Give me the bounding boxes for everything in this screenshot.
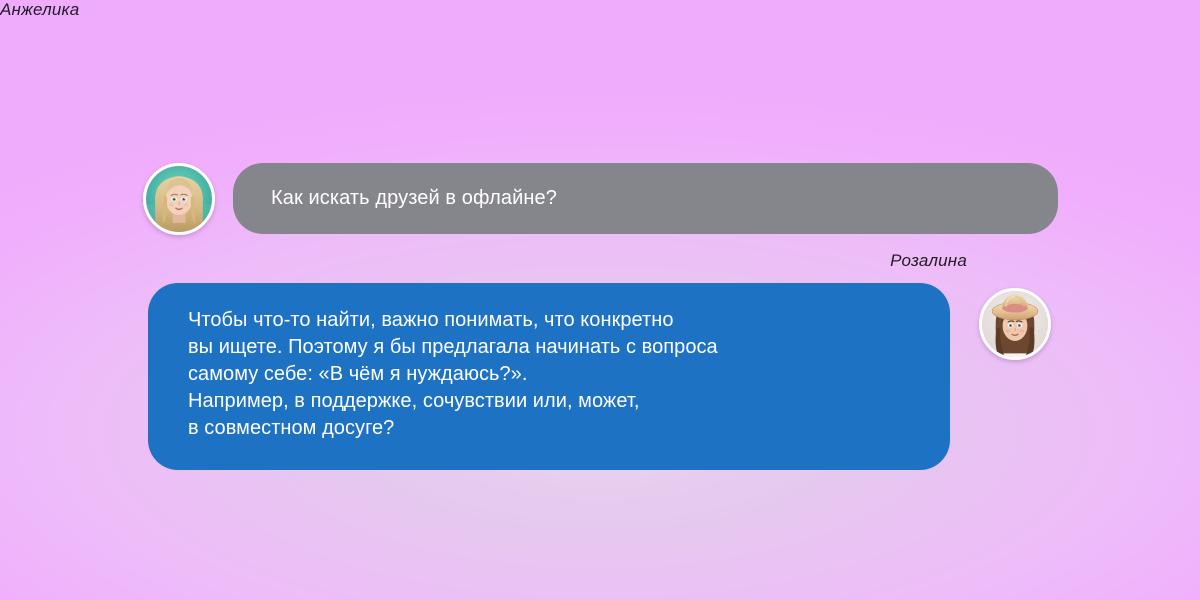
message-text-rozalina: Чтобы что-то найти, важно понимать, что … bbox=[188, 307, 718, 442]
avatar-rozalina[interactable] bbox=[979, 288, 1051, 360]
message-bubble-rozalina[interactable]: Чтобы что-то найти, важно понимать, что … bbox=[148, 283, 950, 470]
avatar-anzhelika[interactable] bbox=[143, 163, 215, 235]
speaker-name-rozalina: Розалина bbox=[760, 251, 967, 271]
message-text-anzhelika: Как искать друзей в офлайне? bbox=[271, 184, 557, 212]
chat-screenshot: Анжелика bbox=[0, 0, 1200, 600]
speaker-name-anzhelika: Анжелика bbox=[0, 0, 79, 20]
avatar-anzhelika-image bbox=[146, 166, 212, 232]
message-bubble-anzhelika[interactable]: Как искать друзей в офлайне? bbox=[233, 163, 1058, 234]
avatar-rozalina-image bbox=[982, 291, 1048, 357]
